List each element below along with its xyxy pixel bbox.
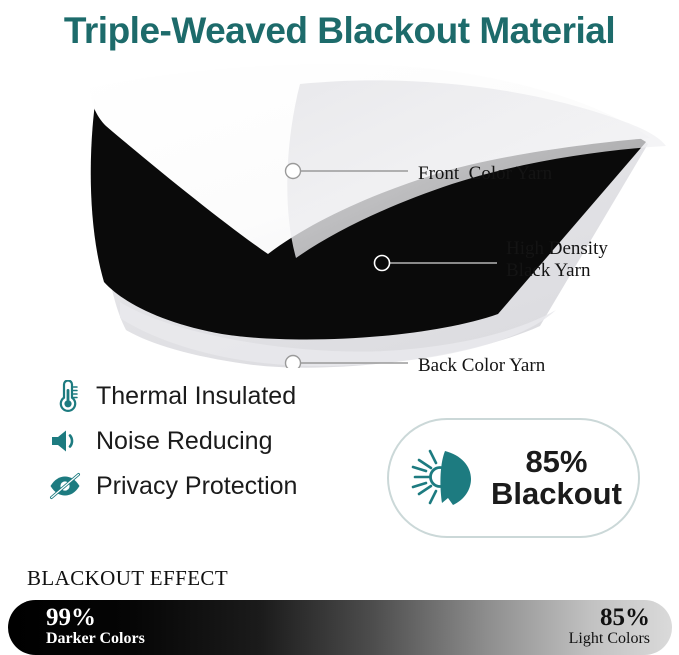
speaker-sound-icon (48, 424, 82, 458)
gradient-bar-right-value: 85% Light Colors (569, 605, 650, 648)
blackout-gradient-bar: 99% Darker Colors 85% Light Colors (8, 600, 672, 655)
eye-slash-icon (48, 469, 82, 503)
callout-marker-back (286, 356, 301, 369)
feature-list: Thermal Insulated Noise Reducing Pri (48, 378, 297, 504)
blackout-rating-badge: 85% Blackout (387, 418, 640, 538)
badge-word: Blackout (491, 478, 622, 510)
feature-noise-reducing: Noise Reducing (48, 423, 297, 459)
darker-colors-percent: 99% (46, 605, 96, 631)
feature-label-thermal-insulated: Thermal Insulated (96, 382, 296, 411)
light-colors-percent: 85% (600, 605, 650, 631)
callout-label-front-color-yarn: Front Color Yarn (418, 163, 552, 185)
gradient-bar-left-value: 99% Darker Colors (46, 605, 145, 648)
triple-weave-layer-diagram: Front Color Yarn High Density Black Yarn… (0, 58, 679, 368)
page-header: Triple-Weaved Blackout Material (0, 0, 679, 58)
feature-label-privacy-protection: Privacy Protection (96, 472, 297, 501)
badge-percent: 85% (525, 446, 587, 478)
thermometer-icon (48, 379, 82, 413)
callout-marker-middle (375, 256, 390, 271)
page-title: Triple-Weaved Blackout Material (64, 10, 615, 52)
blackout-effect-section: BLACKOUT EFFECT 99% Darker Colors 85% Li… (0, 566, 679, 655)
blackout-effect-heading: BLACKOUT EFFECT (27, 566, 228, 591)
darker-colors-caption: Darker Colors (46, 631, 145, 648)
sun-blocked-by-shade-icon (407, 444, 481, 512)
callout-label-high-density-black-yarn: High Density Black Yarn (506, 238, 608, 283)
light-colors-caption: Light Colors (569, 631, 650, 648)
feature-privacy-protection: Privacy Protection (48, 468, 297, 504)
fabric-layers-illustration (0, 58, 679, 368)
feature-thermal-insulated: Thermal Insulated (48, 378, 297, 414)
feature-label-noise-reducing: Noise Reducing (96, 427, 273, 456)
badge-text-block: 85% Blackout (491, 446, 628, 510)
callout-marker-front (286, 164, 301, 179)
